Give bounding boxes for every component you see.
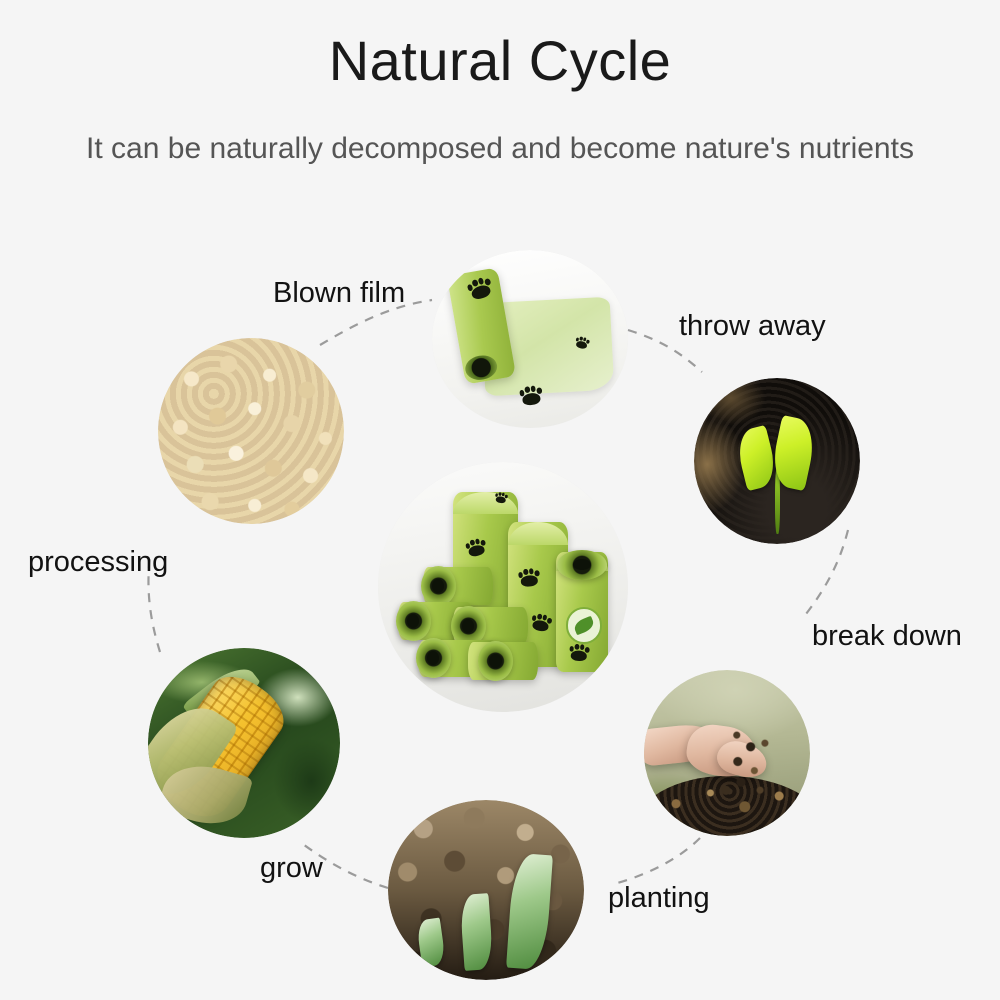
node-planting	[388, 800, 584, 980]
paw-print-icon	[517, 568, 541, 589]
natural-cycle-infographic: Natural Cycle It can be naturally decomp…	[0, 0, 1000, 1000]
roll-cap	[453, 492, 518, 514]
sprout-leaf-left	[734, 425, 781, 491]
connector-break-down-to-planting	[614, 838, 700, 884]
center-product-node	[378, 462, 628, 712]
paw-print-icon	[574, 335, 591, 350]
label-planting: planting	[608, 882, 710, 915]
break-down-photo	[644, 670, 810, 836]
eco-badge-icon	[566, 607, 603, 644]
label-break-down: break down	[812, 620, 962, 653]
roll-end-hole	[421, 566, 456, 606]
seedling-small	[416, 917, 446, 967]
node-processing	[158, 338, 344, 524]
roll-cap	[508, 522, 568, 545]
seedling-medium	[460, 893, 495, 970]
roll-end-hole	[416, 638, 451, 678]
roll-end-hole	[396, 601, 431, 641]
label-throw-away: throw away	[679, 310, 826, 343]
paw-print-icon	[518, 385, 544, 408]
connector-throw-away-to-break-down	[806, 530, 848, 614]
label-processing: processing	[28, 546, 168, 579]
paw-print-icon	[529, 613, 553, 634]
grow-photo	[148, 648, 340, 838]
node-blown-film	[432, 250, 628, 428]
node-grow	[148, 648, 340, 838]
paw-print-icon	[568, 643, 590, 662]
seedling-large	[506, 853, 553, 971]
film-roll-core	[463, 353, 498, 382]
page-subtitle: It can be naturally decomposed and becom…	[0, 132, 1000, 166]
paw-print-icon	[494, 492, 508, 505]
throw-away-photo	[694, 378, 860, 544]
node-break-down	[644, 670, 810, 836]
label-grow: grow	[260, 852, 323, 885]
processing-photo	[158, 338, 344, 524]
roll-end-hole	[478, 641, 513, 681]
product-photo	[378, 462, 628, 712]
blown-film-photo	[432, 250, 628, 428]
page-title: Natural Cycle	[0, 30, 1000, 92]
label-blown-film: Blown film	[273, 277, 405, 310]
node-throw-away	[694, 378, 860, 544]
planting-photo	[388, 800, 584, 980]
roll-end-hole	[557, 550, 607, 580]
